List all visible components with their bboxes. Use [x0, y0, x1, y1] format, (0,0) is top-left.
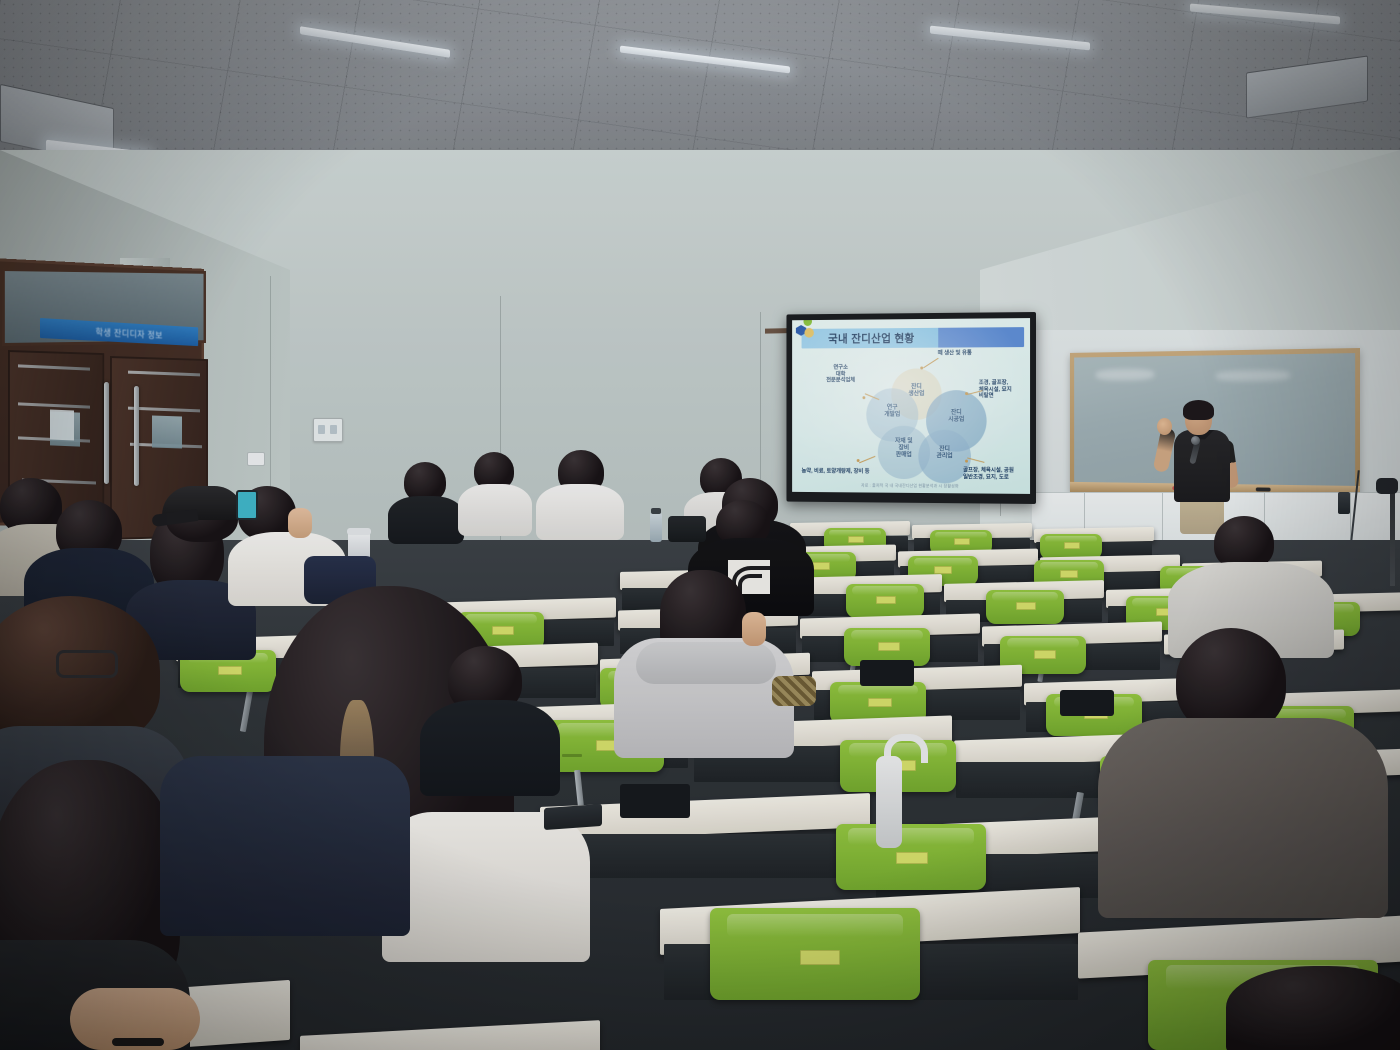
- door-notice-paper: [50, 409, 74, 440]
- leader-dot-right-top: [965, 392, 968, 395]
- projection-screen: 국내 잔디산업 현황 잔디 생산업 연구 개발업 잔디 시공업 자재 및 장비 …: [786, 312, 1036, 504]
- tumbler-lid: [347, 528, 371, 535]
- tablet-on-desk: [544, 804, 602, 830]
- under-desk-box-3: [620, 784, 690, 818]
- leader-line-top: [923, 358, 938, 368]
- hair-clip: [236, 490, 258, 520]
- callout-left-bottom: 농약, 비료, 토양개량제, 장비 등: [802, 469, 870, 476]
- callout-left-top: 연구소 대학 전문분석업체: [826, 365, 855, 384]
- callout-right-bottom: 골프장, 체육시설, 공원 일반조경, 묘지, 도로: [963, 468, 1014, 481]
- light-switch-plate-right[interactable]: [313, 418, 343, 442]
- light-switch-d[interactable]: [330, 425, 337, 434]
- slide-credit-line: 자료 : 출처적 국 내 국내잔디산업 현황분석과 시 장활성화: [792, 482, 1030, 490]
- leader-line-left-bottom: [859, 456, 875, 463]
- chair-label: [876, 596, 896, 604]
- wall-seam-3: [760, 312, 761, 502]
- leader-dot-top: [920, 366, 923, 369]
- presenter-raised-hand: [1157, 418, 1172, 435]
- umbrella-body: [876, 756, 902, 848]
- slide-title-bar: 국내 잔디산업 현황: [802, 327, 1025, 348]
- black-bag-back: [668, 516, 706, 542]
- bubble-management-label: 잔디 관리업: [918, 447, 971, 461]
- bubble-construction-label: 잔디 시공업: [926, 410, 987, 424]
- presentation-slide: 국내 잔디산업 현황 잔디 생산업 연구 개발업 잔디 시공업 자재 및 장비 …: [792, 318, 1030, 494]
- callout-right-top: 조경, 골프장, 체육시설, 묘지 비탈면: [979, 380, 1012, 399]
- water-bottle: [650, 512, 662, 542]
- chair-label: [800, 950, 840, 965]
- under-desk-box-2: [1060, 690, 1114, 716]
- bottle-cap: [651, 508, 661, 514]
- chair-label: [896, 852, 928, 864]
- lecture-hall-photo: 학생 잔디디자 정보 국내 잔디산업 현황: [0, 0, 1400, 1050]
- presenter-hair: [1183, 400, 1214, 420]
- chair-label: [1060, 570, 1078, 578]
- mic-stand-head: [1376, 478, 1398, 494]
- mic-stand-pole: [1390, 490, 1395, 586]
- callout-top: 떼 생산 및 유통: [938, 350, 972, 357]
- black-marker[interactable]: [1256, 487, 1271, 491]
- leader-dot-left-top: [862, 396, 865, 399]
- hoodie-hood: [636, 642, 776, 684]
- chair-label: [218, 666, 242, 675]
- chair-label: [1064, 542, 1080, 549]
- leader-dot-right-bottom: [965, 460, 968, 463]
- hexagon-circles-logo: [796, 318, 819, 342]
- desk-modesty-panel: [544, 834, 868, 878]
- whiteboard-glare-left: [1095, 369, 1154, 381]
- chair-vent-slots: [562, 754, 582, 757]
- logo-green-circle: [803, 318, 812, 326]
- wall-cord-clip: [1338, 492, 1350, 514]
- bubble-research-label: 연구 개발업: [866, 405, 918, 419]
- leopard-pouch: [772, 676, 816, 706]
- logo-yellow-circle: [804, 328, 813, 338]
- presenter-torso: [1174, 430, 1230, 502]
- wall-outlet-back[interactable]: [247, 452, 265, 466]
- light-switch-c[interactable]: [318, 425, 325, 434]
- door-handle-left[interactable]: [104, 382, 109, 484]
- leader-dot-left-bottom: [857, 459, 860, 462]
- chair-label: [492, 626, 514, 635]
- chair-label: [812, 562, 830, 570]
- door-handle-right[interactable]: [134, 386, 139, 486]
- student-white-blouse: [382, 812, 590, 962]
- chair-label: [848, 536, 864, 543]
- chair-label: [954, 538, 970, 545]
- microphone-head: [1191, 436, 1200, 445]
- chair-label: [868, 698, 892, 707]
- wrist-bracelet: [112, 1038, 164, 1046]
- door-banner-label: 학생 잔디디자 정보: [40, 322, 163, 341]
- door-vision-panel-right: [152, 415, 182, 448]
- whiteboard-glare-right: [1216, 370, 1290, 381]
- chair-label: [934, 566, 952, 574]
- eyeglasses: [56, 650, 118, 678]
- student-hand-on-face: [742, 612, 766, 646]
- chair-label: [1034, 650, 1056, 659]
- student-raised-hand: [288, 508, 312, 538]
- chair-label: [878, 642, 900, 651]
- under-desk-box-1: [860, 660, 914, 686]
- chair-label: [1016, 602, 1036, 610]
